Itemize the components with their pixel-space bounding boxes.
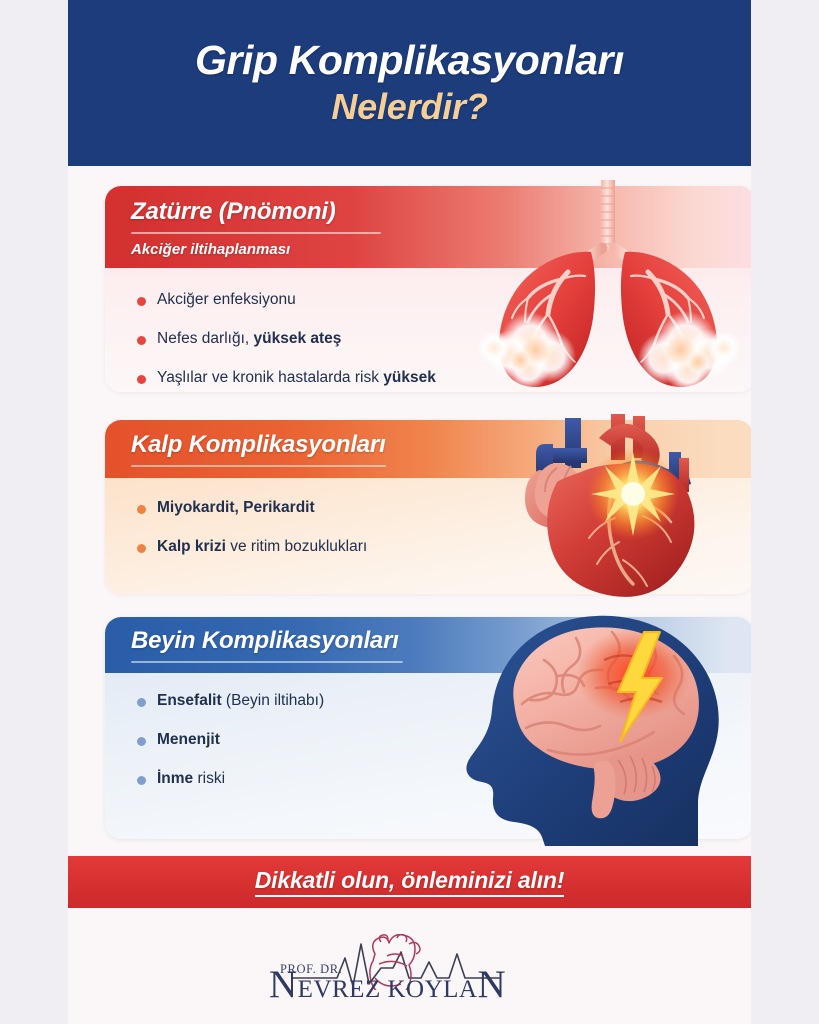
list-item-text: Akciğer enfeksiyonu: [157, 290, 296, 310]
bullet-dot-icon: [137, 544, 146, 553]
list-item-text: Kalp krizi ve ritim bozuklukları: [157, 537, 367, 557]
infographic-page: Grip Komplikasyonları Nelerdir? Zatürre …: [68, 0, 751, 1024]
bullet-dot-icon: [137, 505, 146, 514]
card-pneumonia: Zatürre (Pnömoni) Akciğer iltihaplanması…: [105, 186, 751, 392]
card-pneumonia-rule: [131, 232, 381, 234]
list-item: Yaşlılar ve kronik hastalarda risk yükse…: [137, 368, 436, 388]
card-pneumonia-title: Zatürre (Pnömoni): [131, 198, 751, 227]
card-heart-rule: [131, 465, 386, 467]
bullet-dot-icon: [137, 297, 146, 306]
bullet-dot-icon: [137, 737, 146, 746]
card-pneumonia-subtitle: Akciğer iltihaplanması: [131, 241, 751, 258]
card-pneumonia-bullets: Akciğer enfeksiyonu Nefes darlığı, yükse…: [137, 290, 436, 392]
brand-logo: PROF. DR. NEVREZ KOYLAN: [263, 934, 563, 1016]
list-item-text: Yaşlılar ve kronik hastalarda risk yükse…: [157, 368, 436, 388]
page-subtitle: Nelerdir?: [331, 86, 487, 127]
list-item: Miyokardit, Perikardit: [137, 498, 367, 518]
list-item: Menenjit: [137, 730, 324, 750]
logo-name: NEVREZ KOYLAN: [269, 976, 506, 1004]
list-item: Kalp krizi ve ritim bozuklukları: [137, 537, 367, 557]
page-title: Grip Komplikasyonları: [195, 38, 624, 84]
bullet-dot-icon: [137, 375, 146, 384]
list-item-text: Nefes darlığı, yüksek ateş: [157, 329, 341, 349]
card-heart-bullets: Miyokardit, Perikardit Kalp krizi ve rit…: [137, 498, 367, 576]
card-brain: Beyin Komplikasyonları Ensefalit (Beyin …: [105, 617, 751, 839]
page-header: Grip Komplikasyonları Nelerdir?: [68, 0, 751, 166]
bullet-dot-icon: [137, 336, 146, 345]
list-item-text: Miyokardit, Perikardit: [157, 498, 315, 518]
card-heart: Kalp Komplikasyonları Miyokardit, Perika…: [105, 420, 751, 594]
footer-banner: Dikkatli olun, önleminizi alın!: [68, 856, 751, 908]
card-brain-title: Beyin Komplikasyonları: [131, 627, 751, 656]
bullet-dot-icon: [137, 698, 146, 707]
list-item-text: Ensefalit (Beyin iltihabı): [157, 691, 324, 711]
call-to-action-text: Dikkatli olun, önleminizi alın!: [255, 867, 564, 897]
card-heart-title: Kalp Komplikasyonları: [131, 431, 751, 460]
list-item: Nefes darlığı, yüksek ateş: [137, 329, 436, 349]
list-item: İnme riski: [137, 769, 324, 789]
card-brain-bullets: Ensefalit (Beyin iltihabı) Menenjit İnme…: [137, 691, 324, 808]
list-item: Ensefalit (Beyin iltihabı): [137, 691, 324, 711]
list-item-text: İnme riski: [157, 769, 225, 789]
bullet-dot-icon: [137, 776, 146, 785]
list-item: Akciğer enfeksiyonu: [137, 290, 436, 310]
card-brain-rule: [131, 661, 403, 663]
list-item-text: Menenjit: [157, 730, 220, 750]
